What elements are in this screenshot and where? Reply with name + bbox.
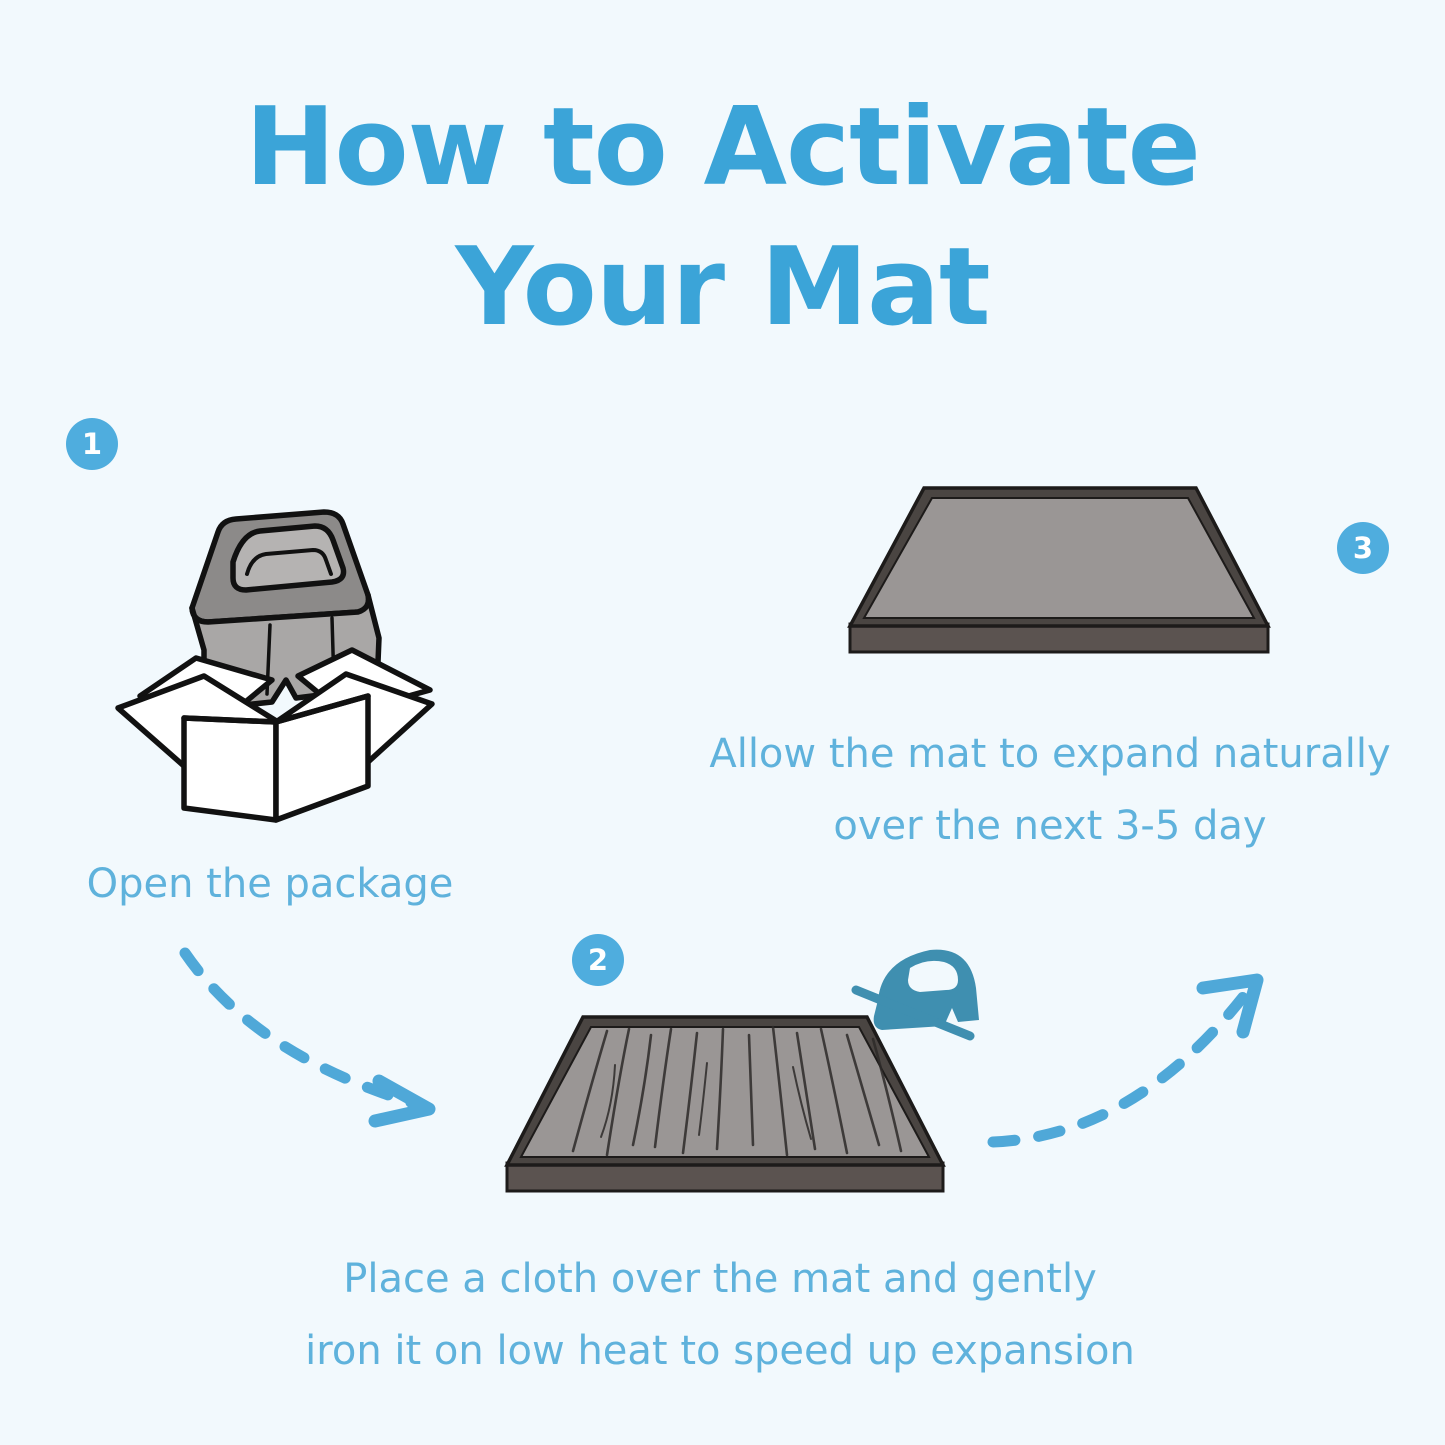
- dashed-arrow-step2-to-step3: [985, 960, 1275, 1155]
- arrowhead-icon: [375, 1081, 429, 1121]
- step-3-caption: Allow the mat to expand naturally over t…: [660, 718, 1440, 862]
- infographic-canvas: How to Activate Your Mat 1: [0, 0, 1445, 1445]
- step-3-badge: 3: [1337, 522, 1389, 574]
- step-2-badge: 2: [572, 934, 624, 986]
- step-1-badge: 1: [66, 418, 118, 470]
- open-box-with-packed-mat-illustration: [100, 490, 450, 820]
- step-1-caption: Open the package: [20, 848, 520, 920]
- page-title-line-2: Your Mat: [0, 218, 1445, 358]
- page-title: How to Activate Your Mat: [0, 78, 1445, 358]
- page-title-line-1: How to Activate: [0, 78, 1445, 218]
- dashed-arrow-line: [993, 992, 1247, 1142]
- dashed-arrow-step1-to-step2: [175, 935, 475, 1135]
- step-2-caption: Place a cloth over the mat and gently ir…: [220, 1243, 1220, 1387]
- iron-handle-cutout: [908, 961, 958, 992]
- flat-expanded-mat-illustration: [840, 478, 1280, 663]
- wrinkled-mat-illustration: [495, 1005, 955, 1210]
